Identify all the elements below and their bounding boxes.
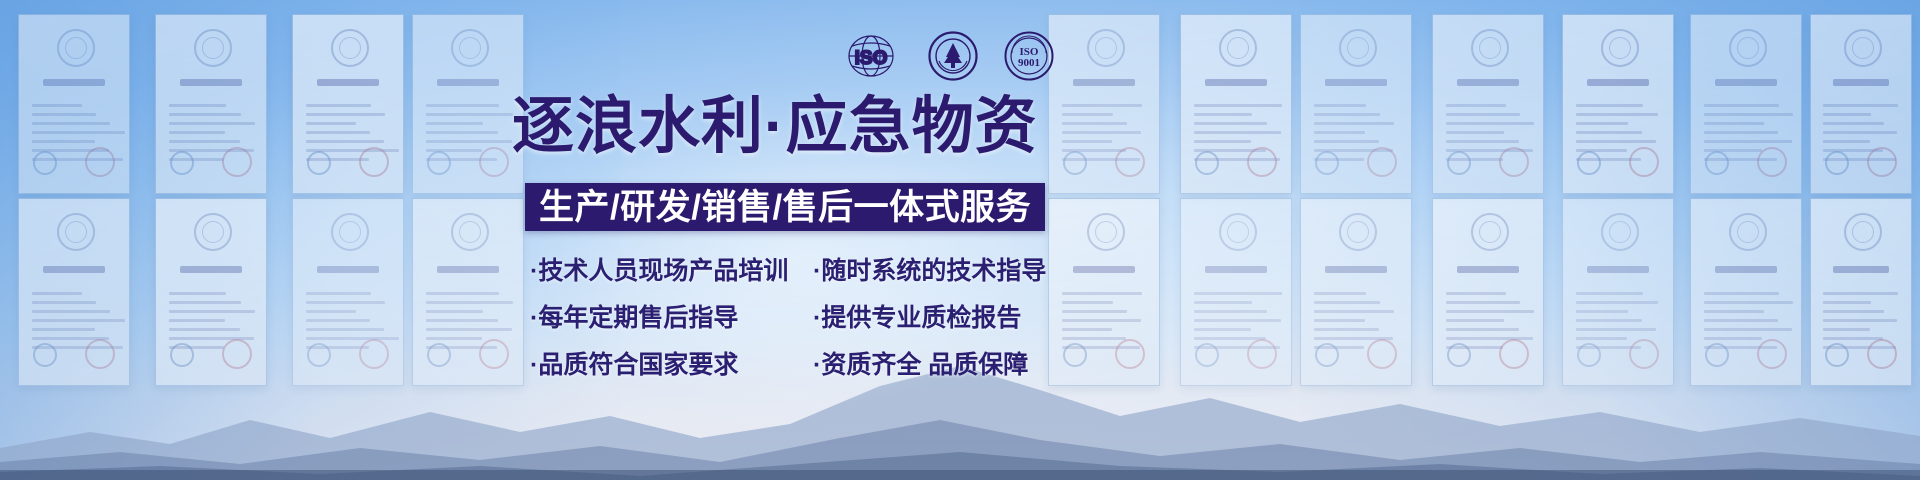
- feature-bullet-list: ·技术人员现场产品培训 ·随时系统的技术指导 ·每年定期售后指导 ·提供专业质检…: [530, 248, 1060, 389]
- bullet-row: ·技术人员现场产品培训 ·随时系统的技术指导: [530, 248, 1060, 295]
- bullet-item: ·随时系统的技术指导: [813, 259, 1046, 284]
- iso9001-badge: ISO 9001: [1004, 31, 1054, 86]
- service-highlight-bar: 生产/研发/销售/售后一体式服务: [525, 183, 1045, 231]
- bullet-item: ·品质符合国家要求: [530, 353, 813, 378]
- iso14000-seal-icon: [928, 31, 978, 81]
- iso-globe-icon: ISO: [840, 34, 902, 78]
- certificate-thumbnail: [1432, 14, 1544, 194]
- bullet-item: ·资质齐全 品质保障: [813, 353, 1028, 378]
- certificate-thumbnail: [292, 14, 404, 194]
- bullet-item: ·每年定期售后指导: [530, 306, 813, 331]
- iso9001-seal-icon: ISO 9001: [1004, 31, 1054, 81]
- treeline: [0, 470, 1920, 480]
- bullet-row: ·每年定期售后指导 ·提供专业质检报告: [530, 295, 1060, 342]
- bullet-row: ·品质符合国家要求 ·资质齐全 品质保障: [530, 342, 1060, 389]
- page-title: 逐浪水利·应急物资: [512, 96, 1072, 158]
- certificate-thumbnail: [1810, 14, 1912, 194]
- certificate-thumbnail: [18, 14, 130, 194]
- certificate-thumbnail: [155, 14, 267, 194]
- bullet-item: ·技术人员现场产品培训: [530, 259, 813, 284]
- svg-text:ISO: ISO: [855, 48, 888, 69]
- certificate-thumbnail: [1562, 14, 1674, 194]
- certification-badges: ISO ISO 9001: [840, 28, 1090, 88]
- certificate-thumbnail: [412, 14, 524, 194]
- service-highlight-text: 生产/研发/销售/售后一体式服务: [539, 190, 1031, 225]
- svg-text:9001: 9001: [1018, 57, 1040, 69]
- iso-globe-badge: ISO: [840, 34, 902, 83]
- certificate-thumbnail: [1300, 14, 1412, 194]
- bullet-item: ·提供专业质检报告: [813, 306, 1021, 331]
- certificate-thumbnail: [1180, 14, 1292, 194]
- promo-banner: ISO ISO 9001: [0, 0, 1920, 480]
- iso14000-badge: [928, 31, 978, 86]
- certificate-thumbnail: [1690, 14, 1802, 194]
